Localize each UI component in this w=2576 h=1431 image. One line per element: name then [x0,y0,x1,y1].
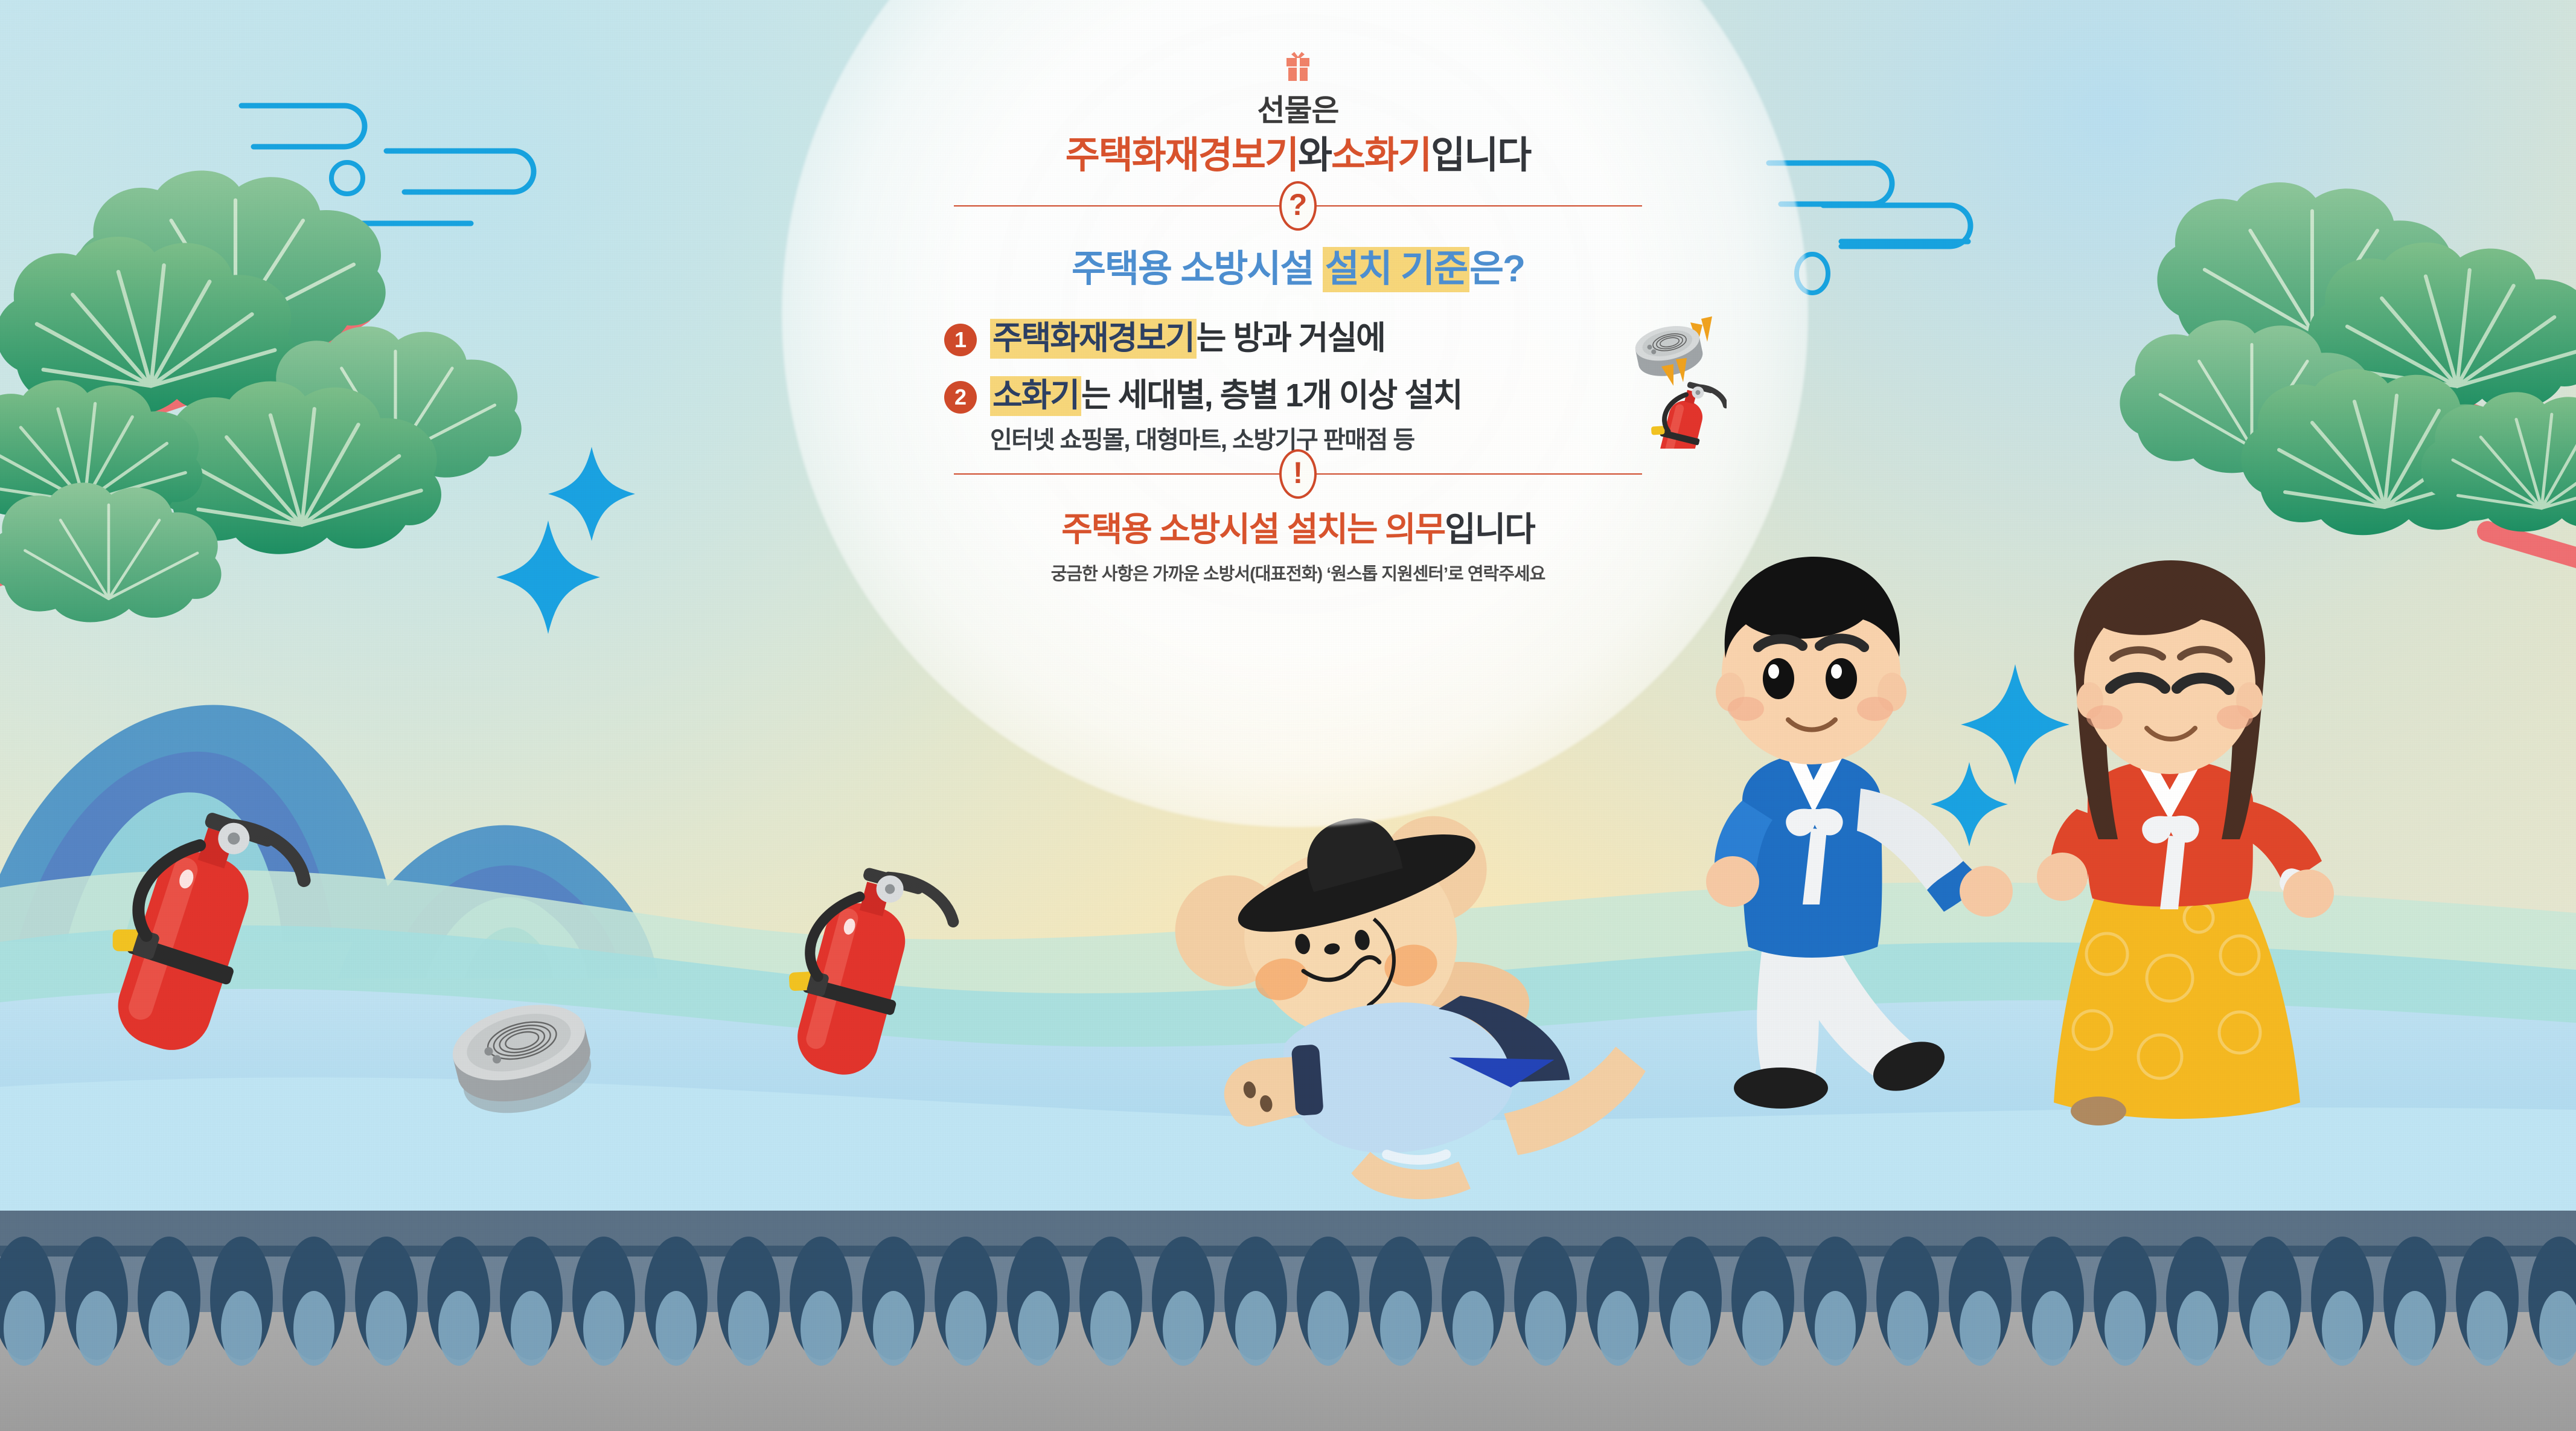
stone-wall [0,1211,2576,1431]
conclusion-lead-text: 주택용 소방시설 설치는 의무 [1061,510,1445,548]
product-alarm-text: 주택화재경보기 [1066,135,1298,176]
question-mark-badge: ? [1279,181,1317,231]
item-main-text: 소화기는 세대별, 층별 1개 이상 설치 [990,376,1462,415]
divider-question: ? [954,205,1642,206]
sparkle-icon [1931,664,2069,847]
item-number-badge: 2 [944,381,977,414]
item-emphasis-text: 소화기 [990,376,1081,416]
item-rest-text: 는 방과 거실에 [1197,320,1385,356]
product-extinguisher-text: 소화기 [1331,135,1431,176]
conclusion-tail-text: 입니다 [1445,510,1535,548]
conjunction-text: 와 [1298,135,1331,176]
copula-text: 입니다 [1431,135,1530,176]
item-emphasis-text: 주택화재경보기 [990,319,1197,359]
sparkle-icon [496,447,635,634]
pine-tree-icon [2120,182,2576,562]
question-lead-text: 주택용 소방시설 [1072,248,1314,290]
list-item: 1 주택화재경보기는 방과 거실에 [893,319,1702,358]
item-main-text: 주택화재경보기는 방과 거실에 [990,319,1385,358]
exclamation-badge: ! [1279,449,1317,499]
pine-tree-icon [0,170,522,622]
question-heading: 주택용 소방시설 설치 기준은? [893,238,1702,292]
gift-products-text: 주택화재경보기와소화기입니다 [893,132,1702,179]
divider-alert: ! [954,473,1642,475]
gift-intro-text: 선물은 [893,92,1702,130]
list-item: 2 소화기는 세대별, 층별 1개 이상 설치 인터넷 쇼핑몰, 대형마트, 소… [893,376,1702,455]
criteria-list: 1 주택화재경보기는 방과 거실에 [893,319,1702,455]
contact-note-text: 궁금한 사항은 가까운 소방서(대표전화) ‘원스톱 지원센터’로 연락주세요 [893,560,1702,585]
info-panel: 선물은 주택화재경보기와소화기입니다 ? 주택용 소방시설 설치 기준은? 1 … [893,42,1702,585]
item-rest-text: 는 세대별, 층별 1개 이상 설치 [1081,377,1462,414]
question-tail-text: 은? [1469,248,1524,290]
item-body: 소화기는 세대별, 층별 1개 이상 설치 인터넷 쇼핑몰, 대형마트, 소방기… [990,376,1462,455]
poster-canvas: 선물은 주택화재경보기와소화기입니다 ? 주택용 소방시설 설치 기준은? 1 … [0,0,2576,1431]
conclusion-text: 주택용 소방시설 설치는 의무입니다 [893,502,1702,551]
fire-extinguisher-icon [1636,358,1727,452]
gift-icon [1277,42,1319,85]
item-body: 주택화재경보기는 방과 거실에 [990,319,1385,358]
woman-hanbok-icon [2037,560,2334,1125]
item-number-badge: 1 [944,324,977,356]
question-highlight-text: 설치 기준 [1323,247,1469,292]
item-sub-text: 인터넷 쇼핑몰, 대형마트, 소방기구 판매점 등 [990,420,1462,455]
